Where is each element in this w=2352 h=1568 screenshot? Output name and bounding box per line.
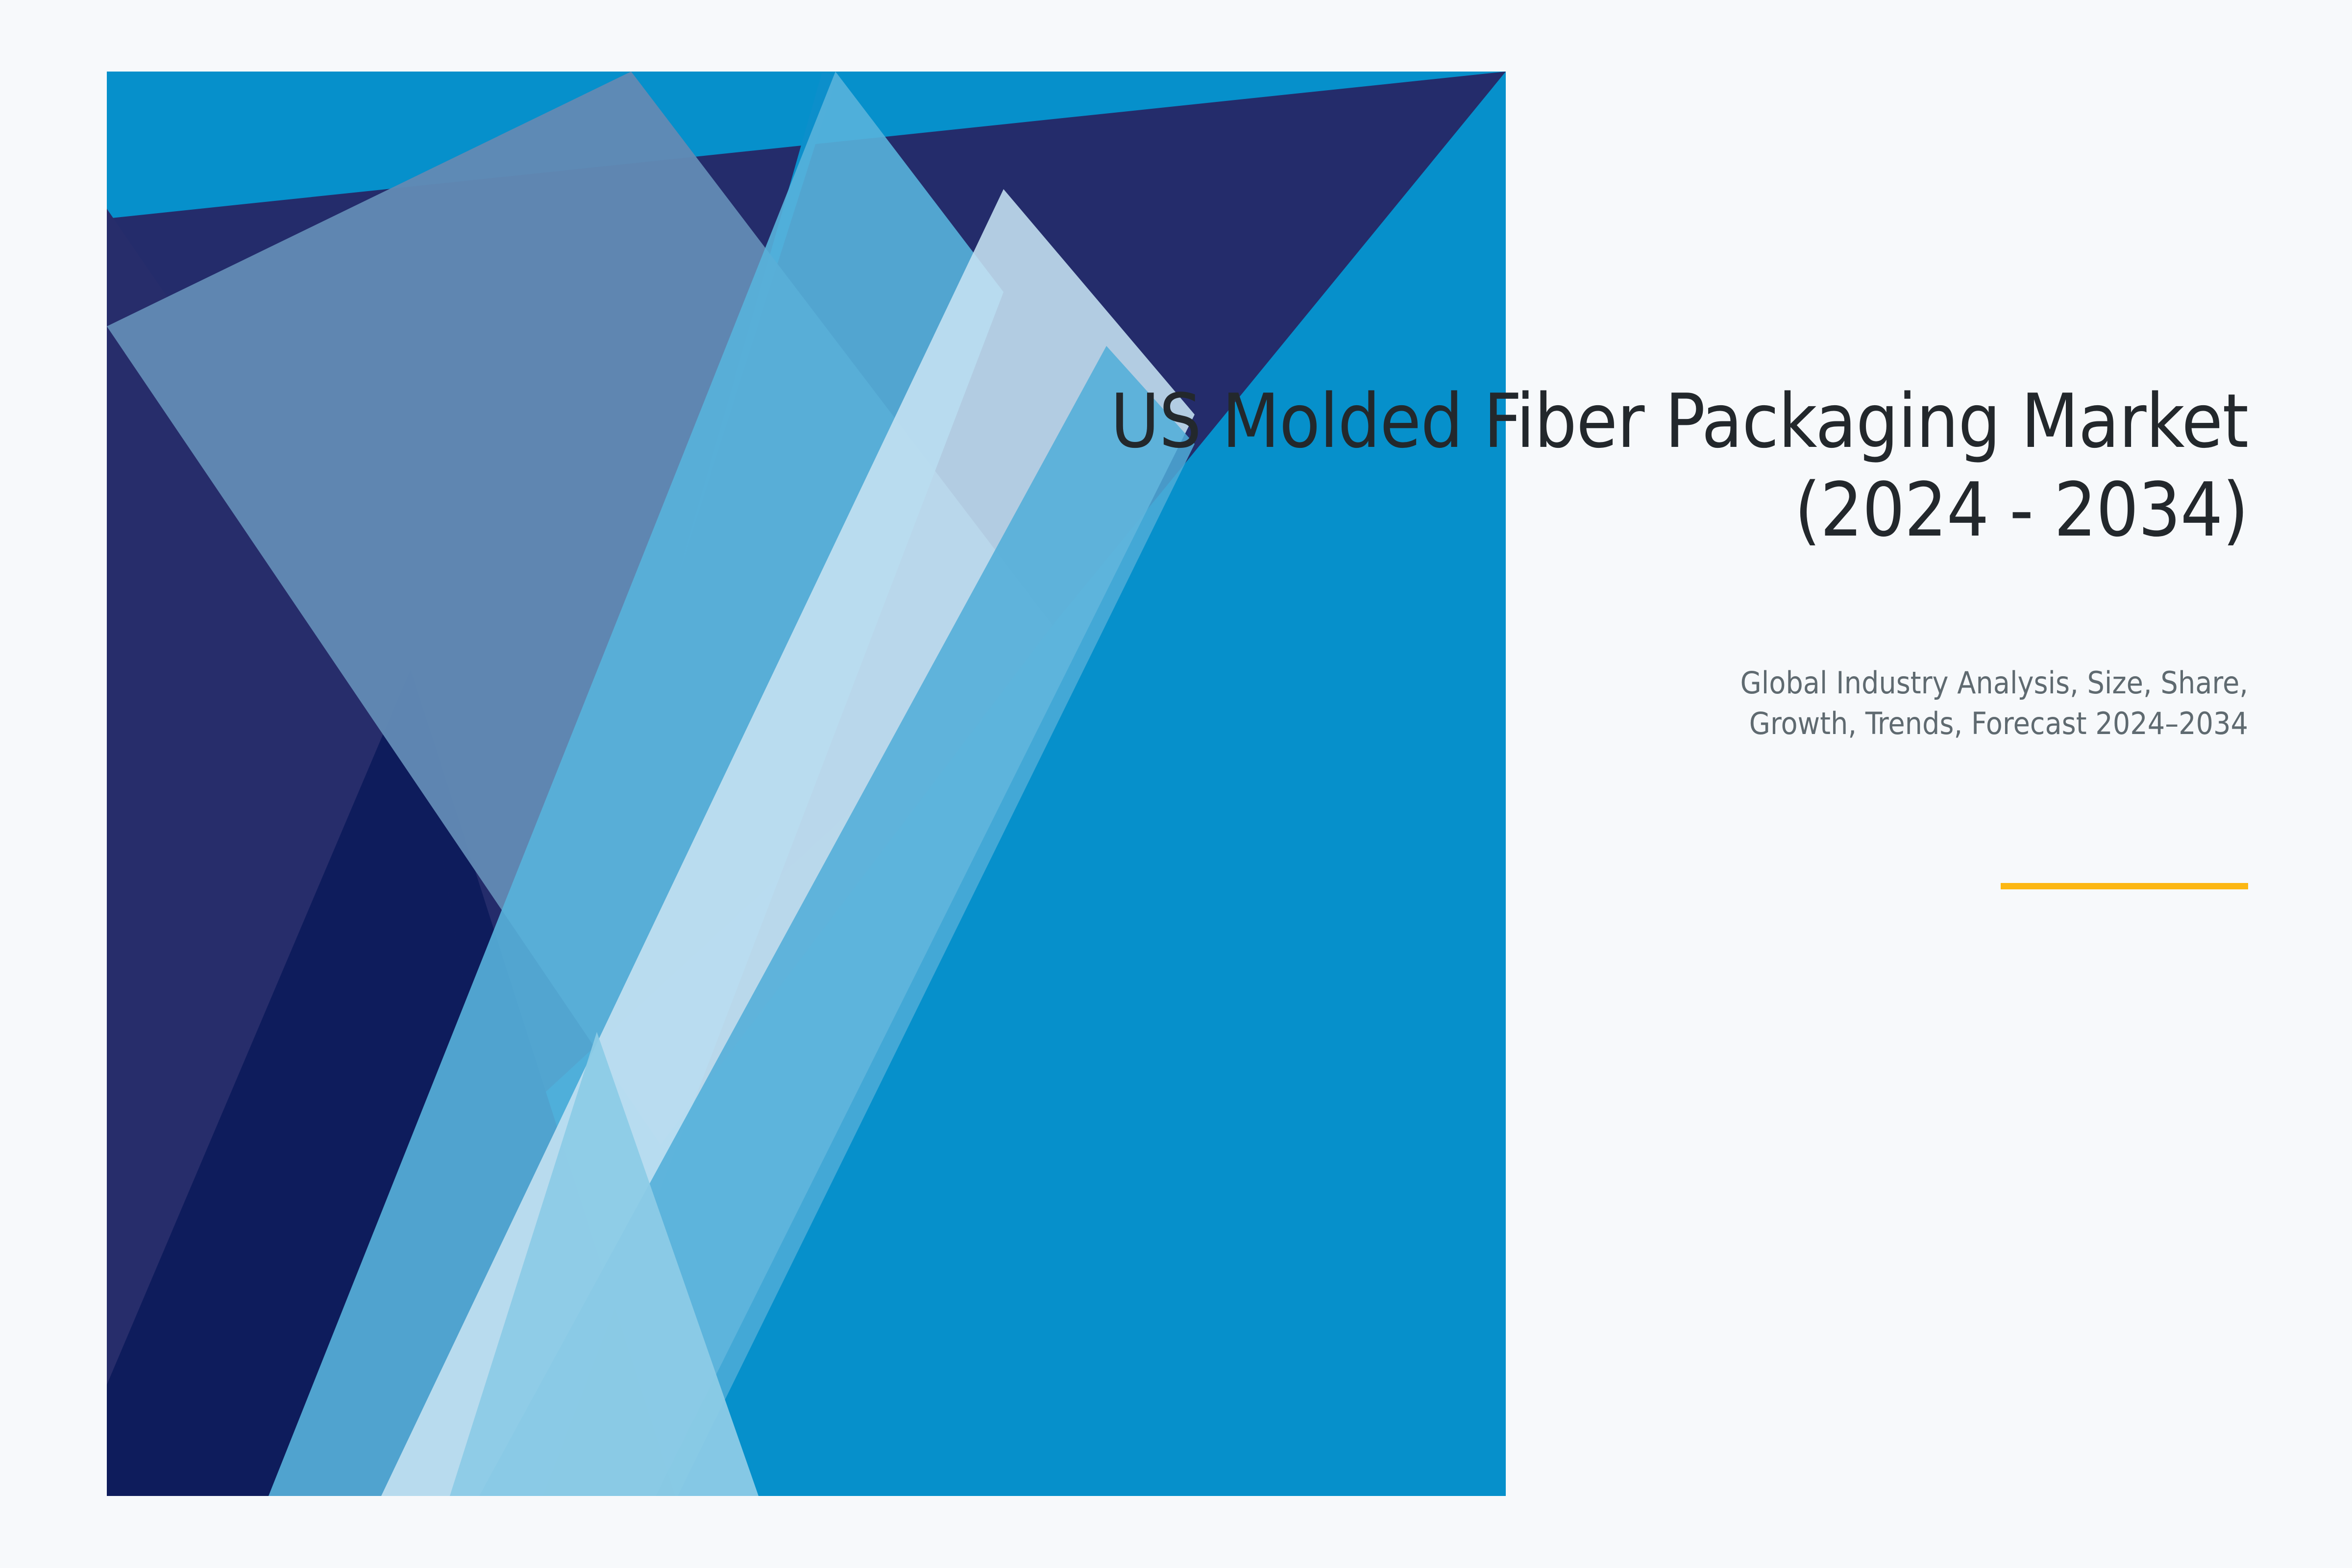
subtitle-block: Global Industry Analysis, Size, Share, G… (1415, 662, 2248, 744)
title-accent-bar (2001, 883, 2248, 889)
page-subtitle: Global Industry Analysis, Size, Share, G… (1415, 662, 2248, 744)
report-cover: US Molded Fiber Packaging Market (2024 -… (0, 0, 2352, 1568)
title-block: US Molded Fiber Packaging Market (2024 -… (925, 377, 2248, 555)
artwork-svg (107, 72, 1506, 1496)
abstract-geometric-artwork (107, 72, 1506, 1496)
page-title: US Molded Fiber Packaging Market (2024 -… (925, 377, 2248, 555)
